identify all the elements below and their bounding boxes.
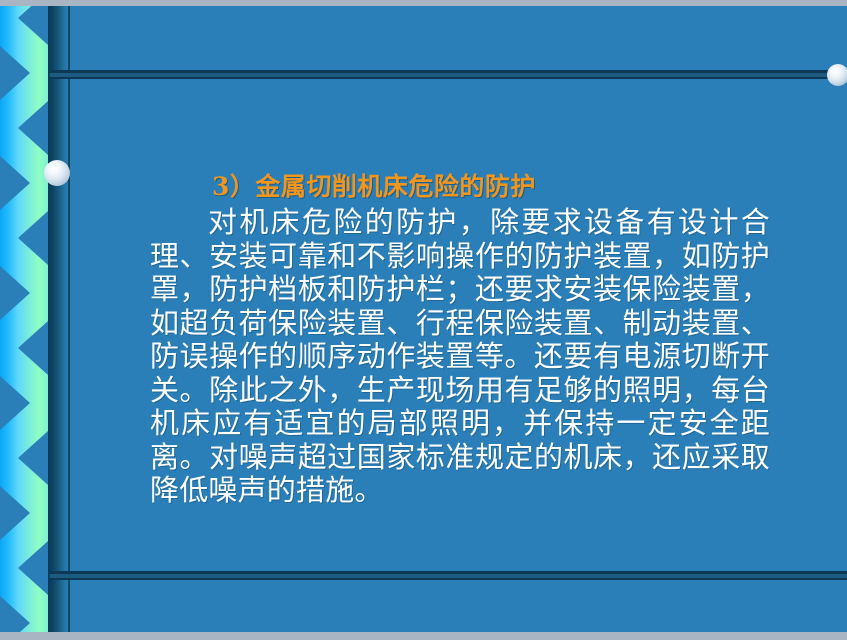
frame-vertical-rule xyxy=(68,5,70,633)
divider-line-dark xyxy=(50,578,847,580)
bottom-divider-bar xyxy=(50,571,847,580)
glow-sphere-right xyxy=(827,64,847,86)
ribbon-notch-icon xyxy=(18,5,48,45)
glow-sphere-left xyxy=(44,160,70,186)
ribbon-notch-icon xyxy=(0,46,30,100)
bottom-edge-strip xyxy=(0,632,847,640)
ribbon-notch-icon xyxy=(0,486,30,540)
ribbon-notch-icon xyxy=(18,321,48,375)
ribbon-notch-icon xyxy=(18,541,48,595)
top-edge-strip xyxy=(0,0,847,6)
top-divider-bar xyxy=(50,70,847,79)
ribbon-notch-icon xyxy=(0,596,30,633)
slide-content: 3）金属切削机床危险的防护 对机床危险的防护，除要求设备有设计合理、安装可靠和不… xyxy=(150,170,790,508)
ribbon-shadow-band xyxy=(48,5,68,633)
ribbon-notch-icon xyxy=(0,376,30,430)
ribbon-notch-icon xyxy=(18,211,48,265)
divider-line-dark xyxy=(50,77,847,79)
ribbon-notch-icon xyxy=(18,431,48,485)
ribbon-notch-icon xyxy=(18,101,48,155)
ribbon-notch-icon xyxy=(0,156,30,210)
zigzag-ribbon-decoration xyxy=(0,5,48,633)
presentation-slide: 3）金属切削机床危险的防护 对机床危险的防护，除要求设备有设计合理、安装可靠和不… xyxy=(0,0,847,640)
slide-body-text: 对机床危险的防护，除要求设备有设计合理、安装可靠和不影响操作的防护装置，如防护罩… xyxy=(150,206,770,508)
slide-title: 3）金属切削机床危险的防护 xyxy=(212,170,790,204)
ribbon-notch-icon xyxy=(0,266,30,320)
